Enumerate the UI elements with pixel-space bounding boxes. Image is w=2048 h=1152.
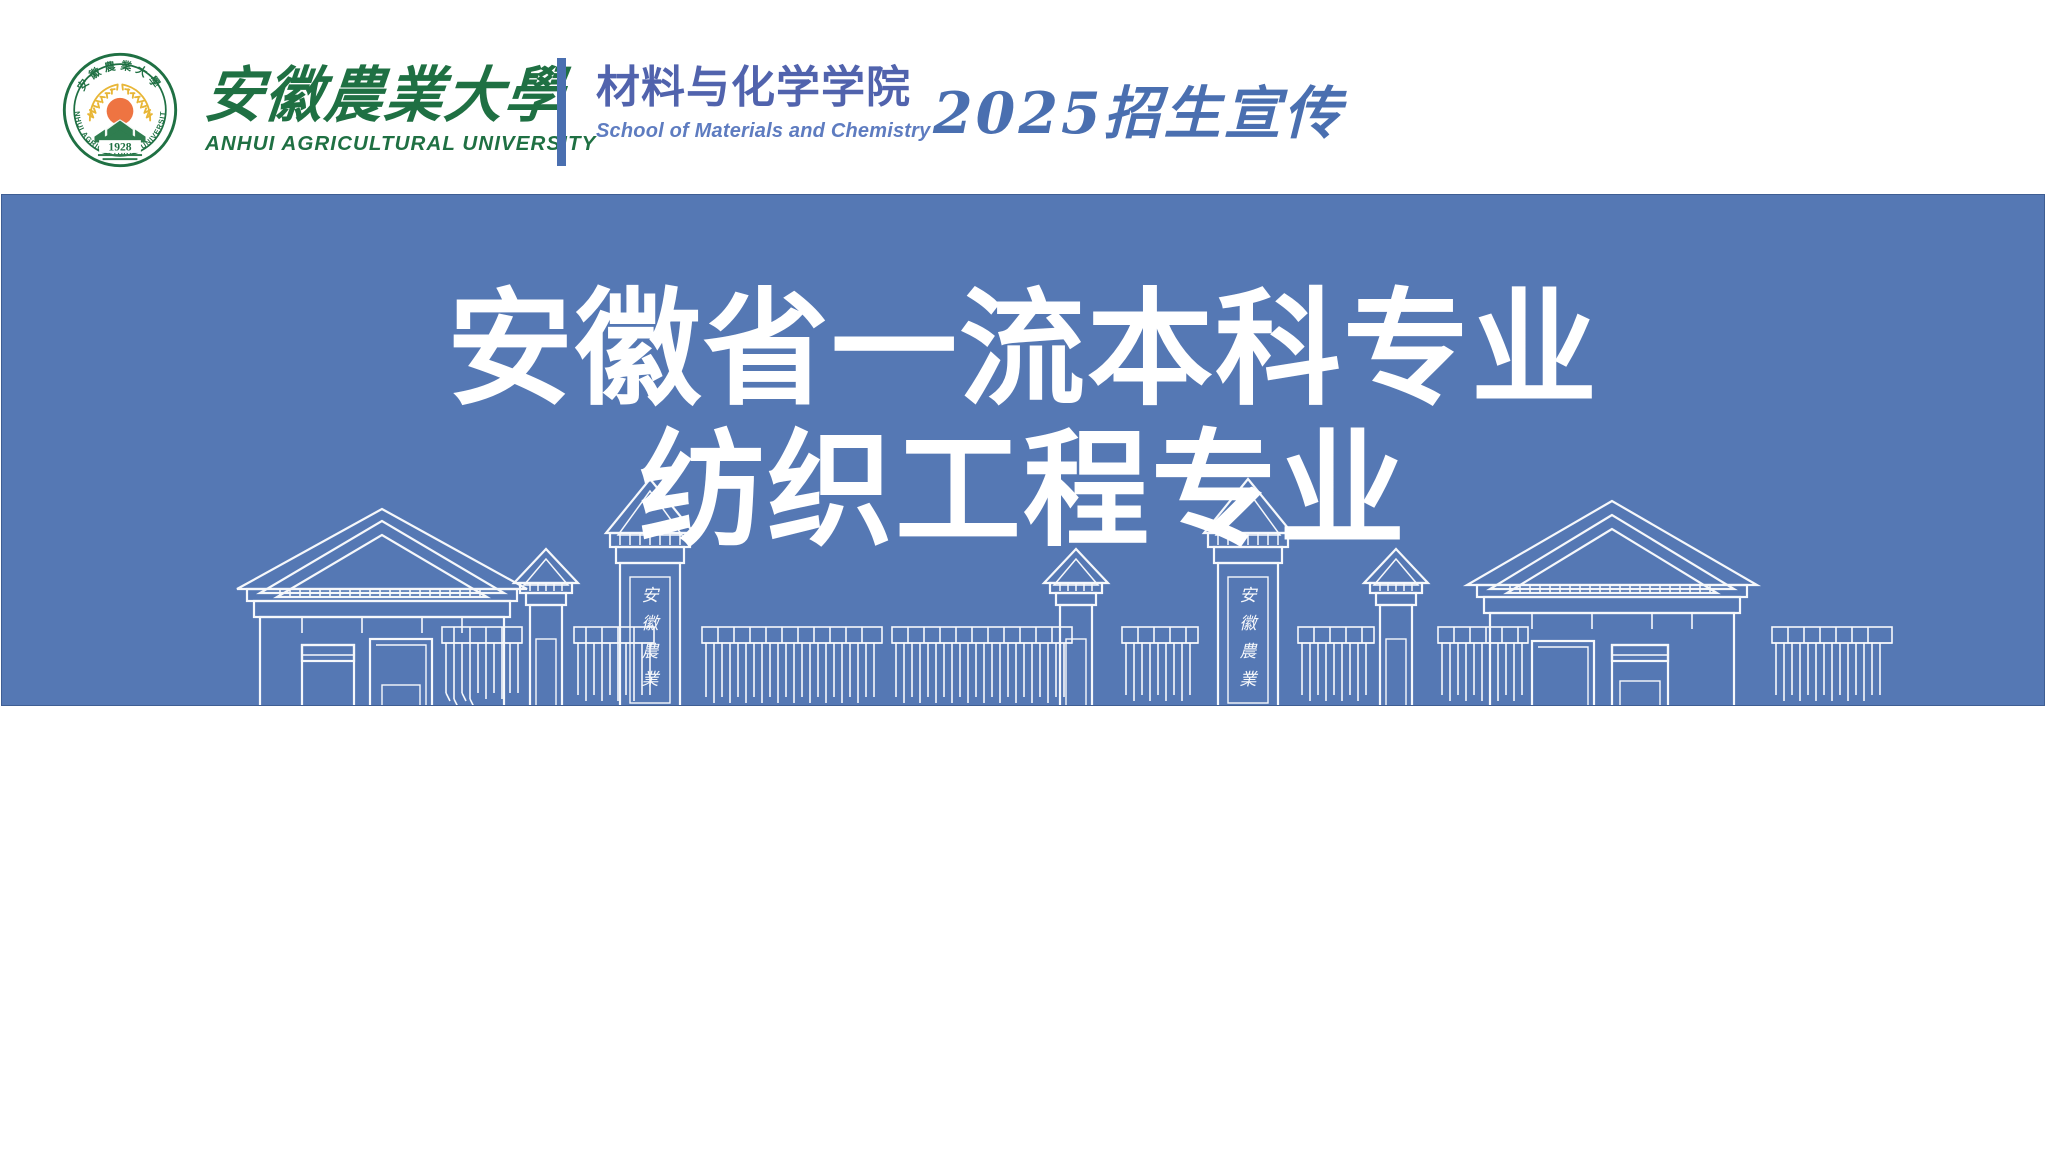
university-seal-emblem: 安徽農業大學 ANHUI AGRICULTURAL UNIVERSITY: [62, 52, 178, 168]
svg-text:安: 安: [1240, 586, 1259, 606]
svg-text:業: 業: [1240, 670, 1259, 690]
svg-text:農: 農: [1240, 642, 1259, 662]
svg-text:農: 農: [642, 642, 661, 662]
banner-title-line1: 安徽省一流本科专业: [2, 283, 2044, 418]
page-header: 安徽農業大學 ANHUI AGRICULTURAL UNIVERSITY: [0, 0, 2048, 188]
svg-text:徽: 徽: [1240, 614, 1260, 634]
college-name-block: 材料与化学学院 School of Materials and Chemistr…: [596, 62, 896, 143]
svg-text:業: 業: [642, 670, 661, 690]
svg-text:徽: 徽: [642, 614, 662, 634]
svg-text:1928: 1928: [108, 141, 131, 154]
university-name-en: ANHUI AGRICULTURAL UNIVERSITY: [205, 132, 540, 156]
university-name-block: 安徽農業大學 ANHUI AGRICULTURAL UNIVERSITY: [205, 62, 540, 167]
banner-title: 安徽省一流本科专业 纺织工程专业: [2, 283, 2044, 559]
svg-text:安: 安: [642, 586, 661, 606]
university-name-cn: 安徽農業大學: [201, 61, 543, 130]
college-name-cn: 材料与化学学院: [596, 62, 896, 114]
banner-title-line2: 纺织工程专业: [2, 424, 2044, 559]
campaign-label: 2025招生宣传: [933, 68, 1344, 150]
content-area: [0, 710, 2048, 1152]
hero-banner: 安徽省一流本科专业 纺织工程专业: [1, 194, 2045, 706]
header-divider: [557, 58, 566, 166]
college-name-en: School of Materials and Chemistry: [596, 120, 896, 143]
